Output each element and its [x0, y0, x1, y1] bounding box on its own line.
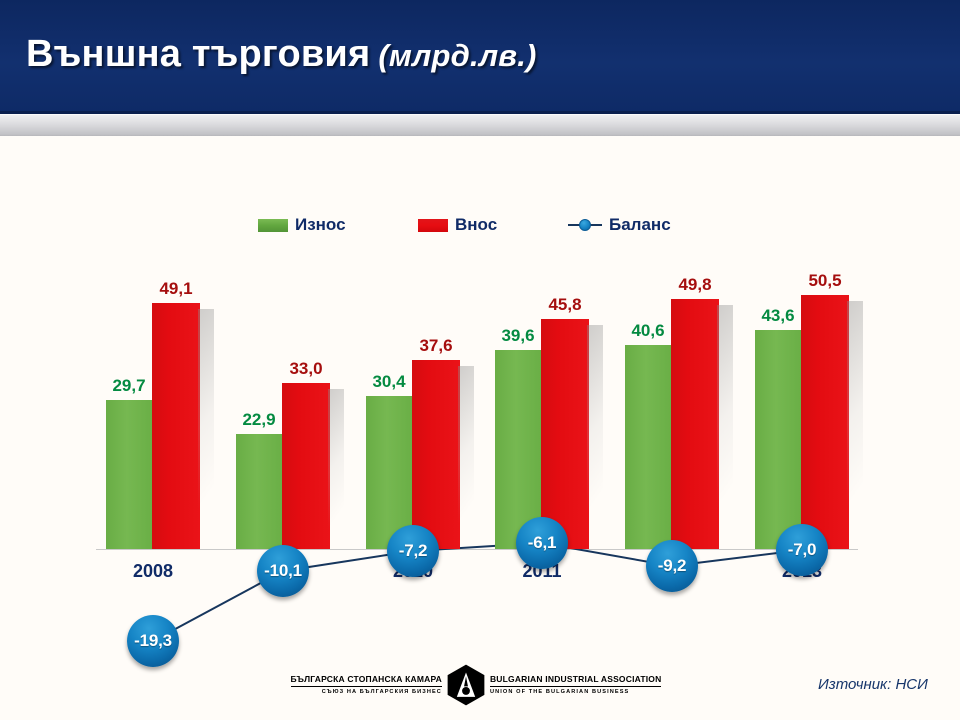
slide: Външна търговия(млрд.лв.) Износ Внос Бал… — [0, 0, 960, 720]
balance-value-2009: -10,1 — [264, 561, 302, 581]
value-label-export-2009: 22,9 — [224, 410, 294, 430]
bar-export-2012 — [625, 345, 671, 549]
logo-en-sub: UNION OF THE BULGARIAN BUSINESS — [490, 688, 629, 696]
bar-export-2008 — [106, 400, 152, 549]
balance-value-2010: -7,2 — [399, 541, 428, 561]
balance-marker-2011: -6,1 — [516, 517, 568, 569]
page-title-main: Външна търговия — [26, 33, 370, 75]
value-label-import-2008: 49,1 — [141, 279, 211, 299]
logo-rule-left — [291, 686, 442, 687]
balance-marker-2009: -10,1 — [257, 545, 309, 597]
balance-value-2012: -9,2 — [658, 556, 687, 576]
balance-marker-2013: -7,0 — [776, 524, 828, 576]
value-label-export-2011: 39,6 — [483, 326, 553, 346]
logo-bg-sub: СЪЮЗ НА БЪЛГАРСКИЯ БИЗНЕС — [322, 688, 442, 696]
bar-import-2008 — [152, 303, 200, 549]
bar-import-2011 — [541, 319, 589, 549]
bar-import-2009 — [282, 383, 330, 549]
header-divider — [0, 114, 960, 136]
page-title: Външна търговия(млрд.лв.) — [26, 33, 537, 76]
logo-bg-main: БЪЛГАРСКА СТОПАНСКА КАМАРА — [291, 674, 442, 685]
plot-area: 29,749,1200822,933,0200930,437,6201039,6… — [0, 136, 960, 576]
value-label-import-2011: 45,8 — [530, 295, 600, 315]
bia-logo: БЪЛГАРСКА СТОПАНСКА КАМАРА СЪЮЗ НА БЪЛГА… — [296, 664, 656, 706]
chart-region: Износ Внос Баланс 29,749,1200822,933,020… — [0, 136, 960, 636]
value-label-import-2013: 50,5 — [790, 271, 860, 291]
x-axis-label-2008: 2008 — [108, 561, 198, 582]
balance-value-2011: -6,1 — [528, 533, 557, 553]
balance-marker-2010: -7,2 — [387, 525, 439, 577]
logo-text-bulgarian: БЪЛГАРСКА СТОПАНСКА КАМАРА СЪЮЗ НА БЪЛГА… — [291, 674, 442, 696]
value-label-export-2010: 30,4 — [354, 372, 424, 392]
balance-marker-2012: -9,2 — [646, 540, 698, 592]
logo-text-english: BULGARIAN INDUSTRIAL ASSOCIATION UNION O… — [490, 674, 662, 696]
balance-marker-2008: -19,3 — [127, 615, 179, 667]
bar-export-2009 — [236, 434, 282, 549]
source-note: Източник: НСИ — [818, 676, 928, 693]
value-label-import-2009: 33,0 — [271, 359, 341, 379]
logo-rule-right — [490, 686, 662, 687]
balance-value-2013: -7,0 — [788, 540, 817, 560]
page-title-unit: (млрд.лв.) — [378, 38, 536, 73]
value-label-import-2010: 37,6 — [401, 336, 471, 356]
bia-hexagon-icon — [446, 664, 486, 706]
balance-value-2008: -19,3 — [134, 631, 172, 651]
bar-export-2013 — [755, 330, 801, 549]
value-label-export-2008: 29,7 — [94, 376, 164, 396]
value-label-export-2012: 40,6 — [613, 321, 683, 341]
value-label-import-2012: 49,8 — [660, 275, 730, 295]
value-label-export-2013: 43,6 — [743, 306, 813, 326]
logo-en-main: BULGARIAN INDUSTRIAL ASSOCIATION — [490, 674, 662, 685]
bar-import-2013 — [801, 295, 849, 549]
